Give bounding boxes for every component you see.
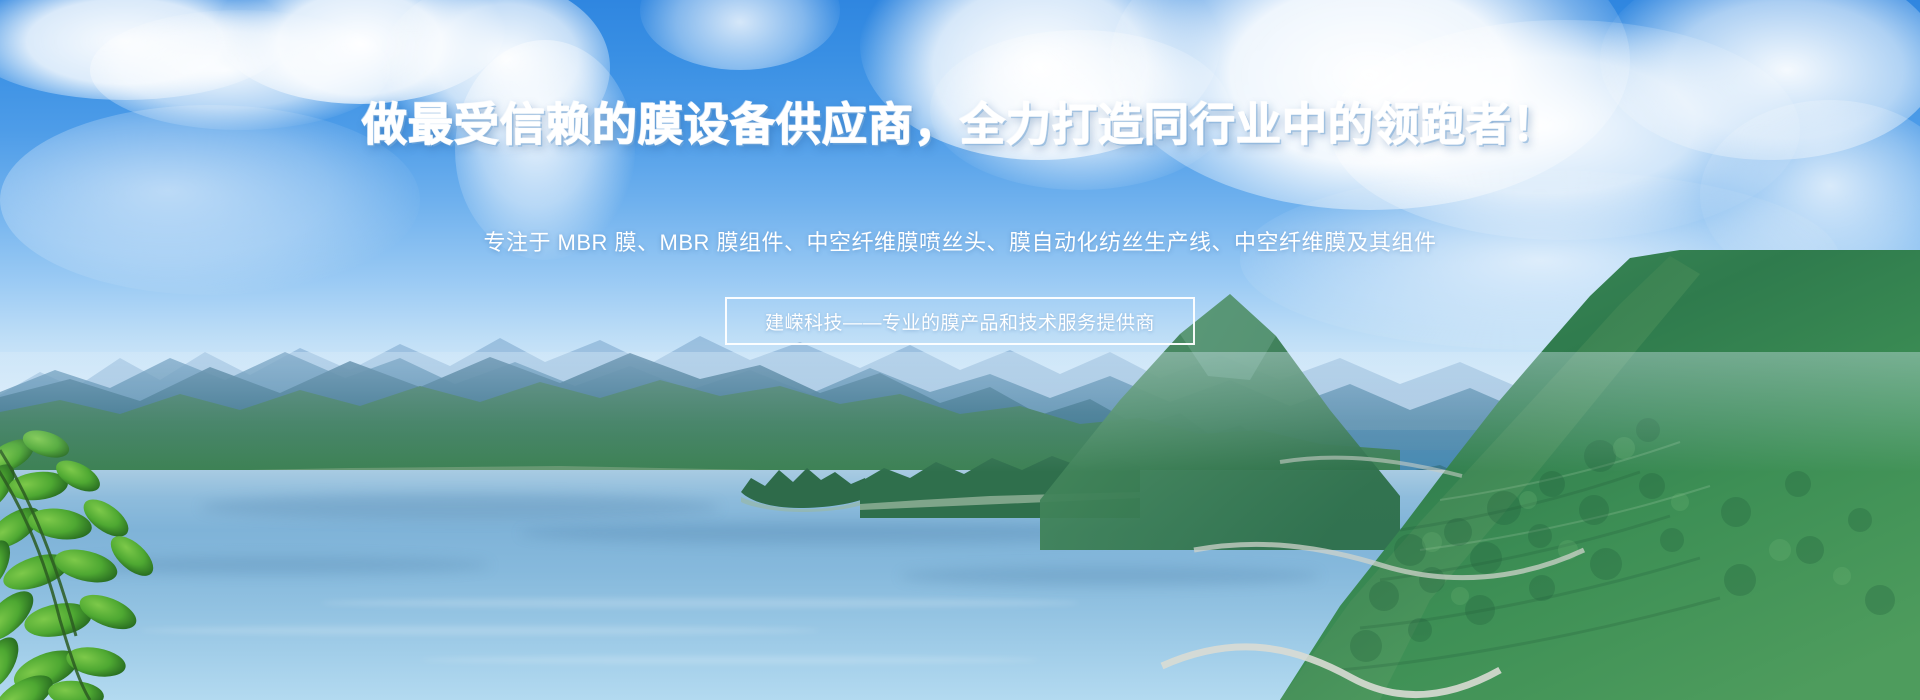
hero-banner: 做最受信赖的膜设备供应商，全力打造同行业中的领跑者！ 专注于 MBR 膜、MBR…: [0, 0, 1920, 700]
banner-subtitle: 专注于 MBR 膜、MBR 膜组件、中空纤维膜喷丝头、膜自动化纺丝生产线、中空纤…: [0, 228, 1920, 258]
banner-headline: 做最受信赖的膜设备供应商，全力打造同行业中的领跑者！: [0, 99, 1920, 151]
tagline-box: 建嵘科技——专业的膜产品和技术服务提供商: [725, 297, 1195, 345]
banner-text-overlay: 做最受信赖的膜设备供应商，全力打造同行业中的领跑者！ 专注于 MBR 膜、MBR…: [0, 0, 1920, 700]
tagline-text: 建嵘科技——专业的膜产品和技术服务提供商: [765, 308, 1155, 335]
